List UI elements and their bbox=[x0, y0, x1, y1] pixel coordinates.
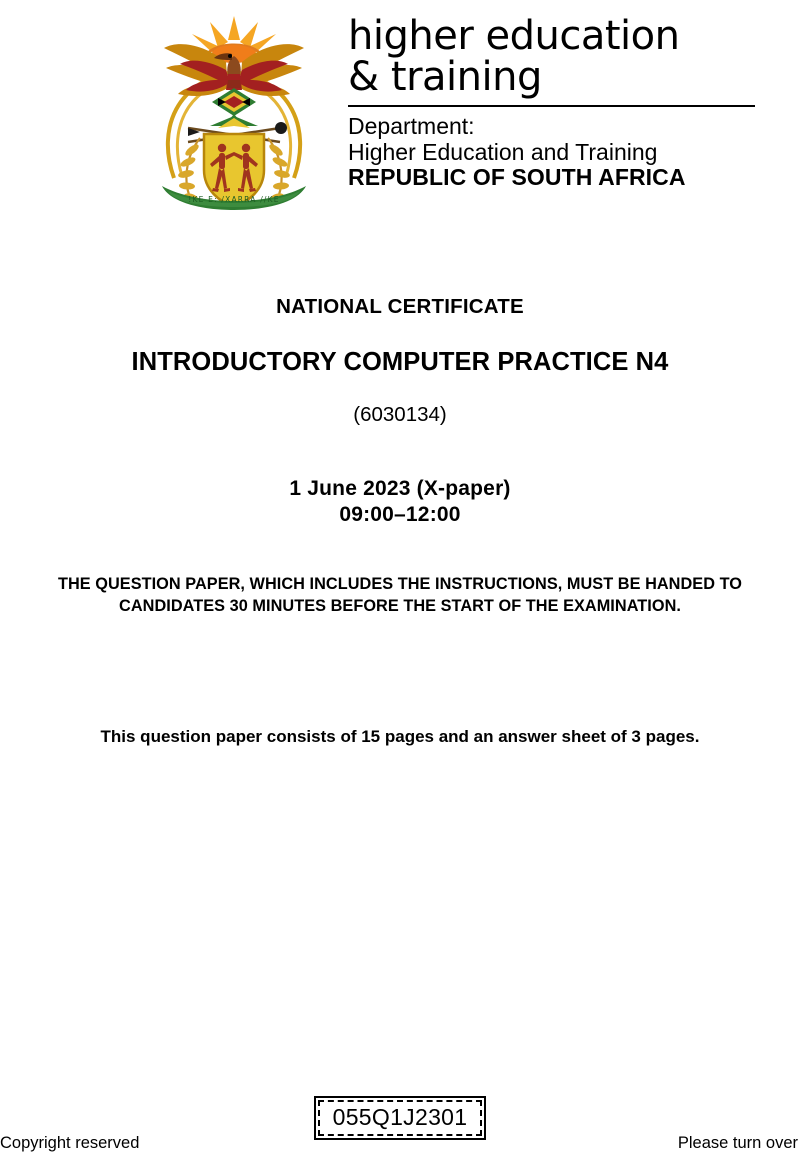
stamp-box-inner-dashed-border: 055Q1J2301 bbox=[318, 1100, 483, 1136]
instruction-line-2: CANDIDATES 30 MINUTES BEFORE THE START O… bbox=[0, 595, 800, 617]
copyright-notice: Copyright reserved bbox=[0, 1133, 139, 1153]
page-count-block: This question paper consists of 15 pages… bbox=[0, 726, 800, 748]
masthead: !KE E: /XARRA //KE higher education & tr… bbox=[0, 8, 800, 208]
page-count-text: This question paper consists of 15 pages… bbox=[0, 726, 800, 748]
exam-date: 1 June 2023 (X-paper) bbox=[0, 476, 800, 502]
department-name: Higher Education and Training bbox=[348, 140, 758, 166]
svg-text:!KE E: /XARRA //KE: !KE E: /XARRA //KE bbox=[188, 195, 279, 204]
department-wordmark: higher education & training Department: … bbox=[348, 16, 758, 191]
paper-code: 055Q1J2301 bbox=[333, 1104, 468, 1131]
wordmark-line-1: higher education bbox=[348, 16, 758, 57]
page-footer: Copyright reserved Please turn over bbox=[0, 1133, 800, 1153]
instruction-line-1: THE QUESTION PAPER, WHICH INCLUDES THE I… bbox=[0, 573, 800, 595]
exam-time: 09:00–12:00 bbox=[0, 502, 800, 528]
subject-code: (6030134) bbox=[0, 402, 800, 428]
department-country: REPUBLIC OF SOUTH AFRICA bbox=[348, 165, 758, 191]
subject-title: INTRODUCTORY COMPUTER PRACTICE N4 bbox=[0, 347, 800, 377]
south-african-coat-of-arms-icon: !KE E: /XARRA //KE bbox=[148, 10, 320, 210]
handing-instruction-block: THE QUESTION PAPER, WHICH INCLUDES THE I… bbox=[0, 573, 800, 617]
certificate-title: NATIONAL CERTIFICATE bbox=[0, 294, 800, 320]
wordmark-line-2: & training bbox=[348, 57, 758, 98]
exam-datetime-block: 1 June 2023 (X-paper) 09:00–12:00 bbox=[0, 476, 800, 528]
department-label: Department: bbox=[348, 114, 758, 140]
title-block: NATIONAL CERTIFICATE INTRODUCTORY COMPUT… bbox=[0, 294, 800, 428]
turn-over-notice: Please turn over bbox=[678, 1133, 798, 1153]
department-text-block: Department: Higher Education and Trainin… bbox=[348, 114, 758, 191]
wordmark-divider bbox=[348, 105, 755, 107]
